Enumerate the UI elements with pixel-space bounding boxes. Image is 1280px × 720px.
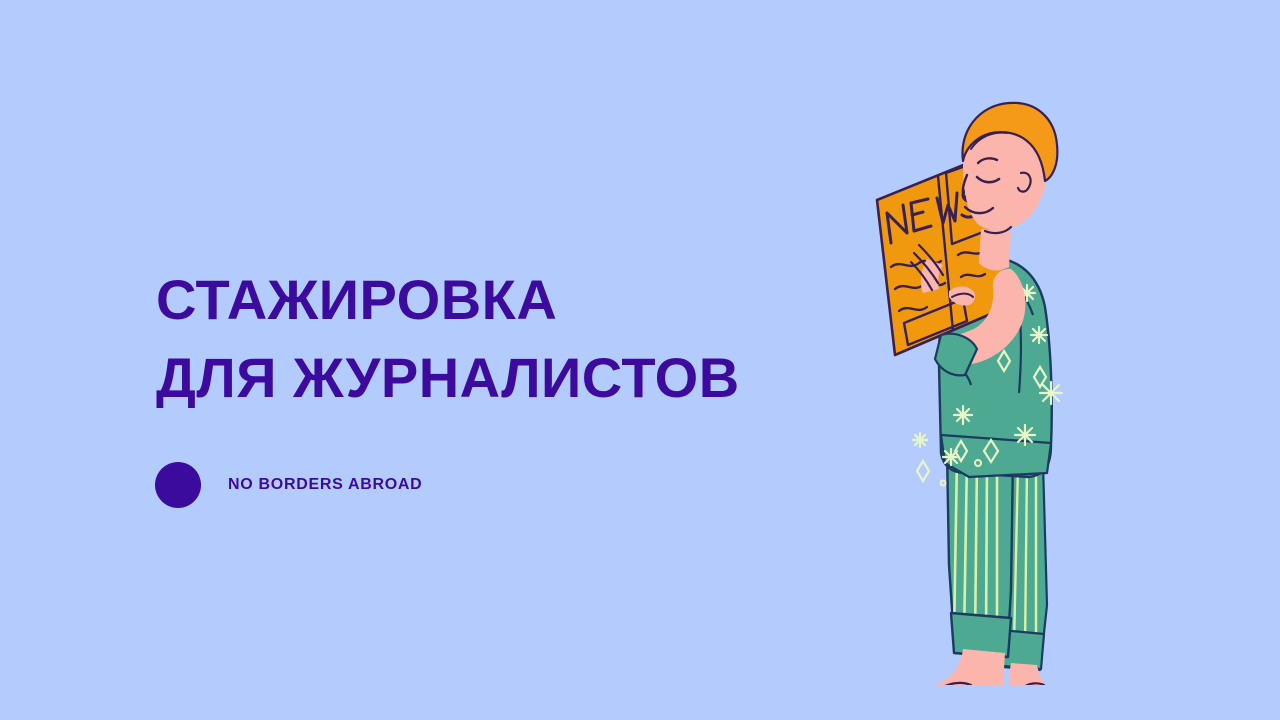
neck xyxy=(979,229,1011,270)
headline-block: СТАЖИРОВКА ДЛЯ ЖУРНАЛИСТОВ xyxy=(156,272,776,406)
brand-row: NO BORDERS ABROAD xyxy=(155,462,422,508)
illustration-man-reading-newspaper xyxy=(815,45,1115,685)
brand-name-label: NO BORDERS ABROAD xyxy=(228,476,422,494)
foot-back xyxy=(1009,663,1061,685)
headline-line-1: СТАЖИРОВКА xyxy=(156,272,776,328)
head xyxy=(962,103,1057,233)
pants-front-leg xyxy=(947,450,1013,657)
headline-line-2: ДЛЯ ЖУРНАЛИСТОВ xyxy=(156,350,776,406)
brand-dot-icon xyxy=(155,462,201,508)
slide-canvas: СТАЖИРОВКА ДЛЯ ЖУРНАЛИСТОВ NO BORDERS AB… xyxy=(0,0,1280,720)
foot-front xyxy=(929,649,1005,685)
